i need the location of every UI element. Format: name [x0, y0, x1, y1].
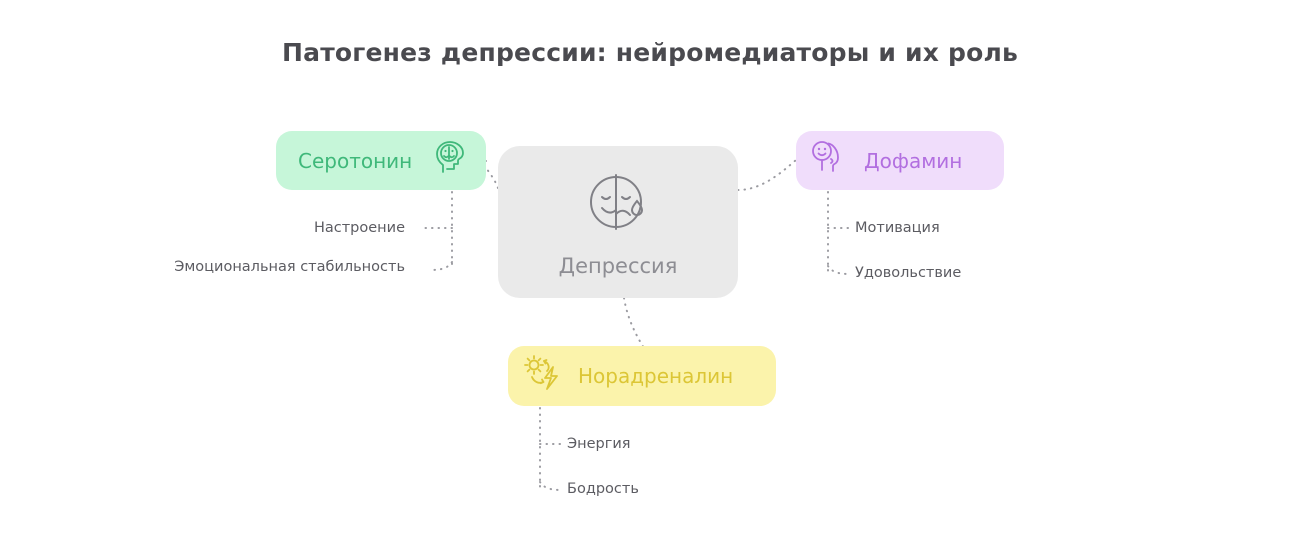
node-noradrenaline-label: Норадреналин: [578, 364, 733, 388]
node-serotonin[interactable]: Серотонин: [276, 131, 486, 190]
sub-label-vigor: Бодрость: [567, 481, 639, 497]
node-depression[interactable]: Депрессия: [498, 146, 738, 298]
page-title: Патогенез депрессии: нейромедиаторы и их…: [0, 38, 1300, 67]
connector-center-dopamine: [738, 160, 796, 190]
sun-lightning-energy-icon: [522, 353, 564, 399]
diagram-canvas: Патогенез депрессии: нейромедиаторы и их…: [0, 0, 1300, 546]
head-profile-face-icon: [432, 140, 470, 182]
connector-center-noradrenaline: [624, 298, 645, 350]
node-dopamine[interactable]: Дофамин: [796, 131, 1004, 190]
node-dopamine-label: Дофамин: [864, 149, 962, 173]
connector-noradrenaline-vigor: [540, 482, 562, 490]
node-noradrenaline[interactable]: Норадреналин: [508, 346, 776, 406]
node-serotonin-label: Серотонин: [298, 149, 412, 173]
node-depression-label: Депрессия: [559, 254, 678, 278]
split-face-sad-happy-icon: [582, 166, 654, 242]
sub-label-mood: Настроение: [314, 220, 405, 236]
sub-label-energy: Энергия: [567, 436, 631, 452]
sub-label-motivation: Мотивация: [855, 220, 940, 236]
connector-dopamine-pleasure: [828, 266, 850, 274]
sub-label-pleasure: Удовольствие: [855, 265, 961, 281]
smiley-head-profile-icon: [810, 139, 850, 183]
connector-serotonin-stability: [430, 262, 452, 270]
sub-label-stability: Эмоциональная стабильность: [174, 259, 405, 275]
